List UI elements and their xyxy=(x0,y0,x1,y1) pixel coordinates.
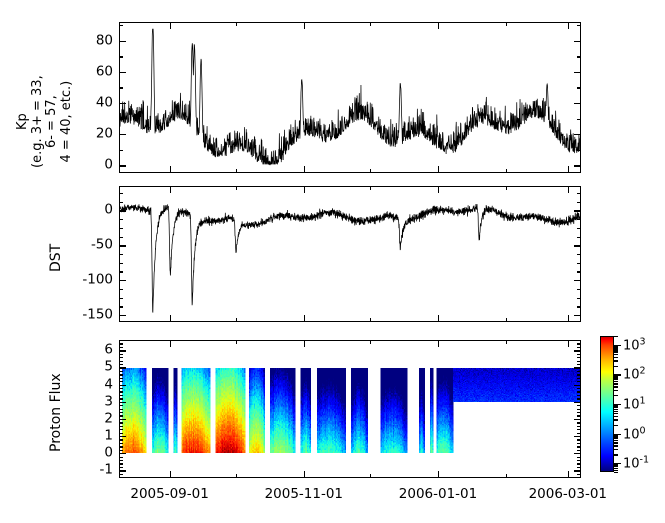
y-minor-tick xyxy=(577,450,581,451)
proton-flux-spectrogram xyxy=(120,341,580,477)
y-major-tick xyxy=(119,436,126,437)
x-major-tick xyxy=(568,166,569,173)
y-minor-tick xyxy=(577,405,581,406)
y-minor-tick xyxy=(119,347,123,348)
dst-trace xyxy=(120,204,580,313)
y-tick-label: -50 xyxy=(67,239,113,253)
colorbar-minor-tick xyxy=(614,445,618,446)
x-major-tick xyxy=(438,471,439,478)
colorbar-tick-label: 103 xyxy=(623,336,646,353)
y-minor-tick xyxy=(577,228,581,229)
x-major-tick xyxy=(304,22,305,29)
colorbar-minor-tick xyxy=(614,454,618,455)
colorbar-minor-tick xyxy=(614,425,618,426)
y-minor-tick xyxy=(119,254,123,255)
y-minor-tick xyxy=(119,457,123,458)
y-major-tick xyxy=(574,436,581,437)
colorbar-minor-tick xyxy=(614,376,618,377)
y-minor-tick xyxy=(119,193,123,194)
colorbar-minor-tick xyxy=(614,468,618,469)
y-minor-tick xyxy=(577,439,581,440)
y-minor-tick xyxy=(119,446,123,447)
y-minor-tick xyxy=(577,263,581,264)
x-minor-tick xyxy=(370,186,371,190)
x-major-tick xyxy=(170,22,171,29)
x-minor-tick xyxy=(370,22,371,26)
y-tick-label: 6 xyxy=(67,344,113,358)
y-minor-tick xyxy=(577,340,581,341)
y-minor-tick xyxy=(577,426,581,427)
x-minor-tick xyxy=(506,318,507,322)
y-major-tick xyxy=(574,165,581,166)
x-major-tick xyxy=(568,471,569,478)
y-major-tick xyxy=(119,350,126,351)
y-minor-tick xyxy=(577,443,581,444)
y-tick-label: 0 xyxy=(67,204,113,218)
y-minor-tick xyxy=(577,477,581,478)
y-major-tick xyxy=(119,402,126,403)
colorbar xyxy=(600,336,614,472)
y-major-tick xyxy=(119,470,126,471)
y-minor-tick xyxy=(119,119,123,120)
y-major-tick xyxy=(574,350,581,351)
colorbar-major-tick xyxy=(614,404,621,405)
y-minor-tick xyxy=(119,289,123,290)
y-minor-tick xyxy=(119,298,123,299)
y-minor-tick xyxy=(119,395,123,396)
x-major-tick xyxy=(438,166,439,173)
x-minor-tick xyxy=(506,340,507,344)
x-minor-tick xyxy=(506,169,507,173)
y-minor-tick xyxy=(119,474,123,475)
y-minor-tick xyxy=(119,391,123,392)
y-major-tick xyxy=(119,280,126,281)
y-major-tick xyxy=(119,245,126,246)
colorbar-minor-tick xyxy=(614,405,618,406)
y-minor-tick xyxy=(577,306,581,307)
x-major-tick xyxy=(438,315,439,322)
x-tick-label: 2006-03-01 xyxy=(529,488,607,502)
x-major-tick xyxy=(304,186,305,193)
y-minor-tick xyxy=(577,398,581,399)
colorbar-minor-tick xyxy=(614,349,618,350)
y-tick-label: 0 xyxy=(67,446,113,460)
colorbar-minor-tick xyxy=(614,381,618,382)
kp-line-plot xyxy=(120,23,580,172)
y-major-tick xyxy=(574,103,581,104)
y-major-tick xyxy=(119,165,126,166)
colorbar-minor-tick xyxy=(614,466,618,467)
colorbar-minor-tick xyxy=(614,379,618,380)
y-minor-tick xyxy=(119,463,123,464)
y-minor-tick xyxy=(119,467,123,468)
y-minor-tick xyxy=(119,150,123,151)
y-minor-tick xyxy=(119,361,123,362)
y-minor-tick xyxy=(577,391,581,392)
y-minor-tick xyxy=(119,25,123,26)
y-minor-tick xyxy=(119,354,123,355)
y-minor-tick xyxy=(577,119,581,120)
y-tick-label: -150 xyxy=(67,308,113,322)
y-minor-tick xyxy=(577,298,581,299)
dst-axis-title: DST xyxy=(48,244,64,272)
kp-axis-title: Kp (e.g. 3+ = 33, 6- = 57, 4 = 40, etc.) xyxy=(16,75,74,168)
y-minor-tick xyxy=(119,409,123,410)
y-major-tick xyxy=(574,280,581,281)
spectrogram-cells xyxy=(122,368,580,453)
colorbar-minor-tick xyxy=(614,464,618,465)
y-minor-tick xyxy=(577,388,581,389)
x-major-tick xyxy=(304,340,305,347)
y-major-tick xyxy=(574,385,581,386)
y-minor-tick xyxy=(577,474,581,475)
y-major-tick xyxy=(574,419,581,420)
x-major-tick xyxy=(438,186,439,193)
y-minor-tick xyxy=(119,87,123,88)
y-tick-label: 2 xyxy=(67,412,113,426)
y-minor-tick xyxy=(577,202,581,203)
y-major-tick xyxy=(119,453,126,454)
x-major-tick xyxy=(304,315,305,322)
y-tick-label: 5 xyxy=(67,361,113,375)
y-tick-label: -100 xyxy=(67,273,113,287)
y-minor-tick xyxy=(577,374,581,375)
y-minor-tick xyxy=(577,446,581,447)
y-minor-tick xyxy=(119,56,123,57)
x-major-tick xyxy=(568,340,569,347)
y-minor-tick xyxy=(119,422,123,423)
colorbar-minor-tick xyxy=(614,442,618,443)
x-minor-tick xyxy=(236,474,237,478)
colorbar-minor-tick xyxy=(614,357,618,358)
figure-canvas: 020406080 Kp (e.g. 3+ = 33, 6- = 57, 4 =… xyxy=(0,0,665,523)
y-tick-label: 3 xyxy=(67,395,113,409)
kp-panel xyxy=(119,22,581,173)
y-major-tick xyxy=(574,41,581,42)
y-minor-tick xyxy=(119,357,123,358)
colorbar-minor-tick xyxy=(614,354,618,355)
y-minor-tick xyxy=(119,460,123,461)
y-minor-tick xyxy=(119,443,123,444)
colorbar-minor-tick xyxy=(614,390,618,391)
y-minor-tick xyxy=(577,56,581,57)
x-minor-tick xyxy=(236,340,237,344)
x-minor-tick xyxy=(370,474,371,478)
y-minor-tick xyxy=(577,271,581,272)
colorbar-minor-tick xyxy=(614,360,618,361)
y-minor-tick xyxy=(577,347,581,348)
x-major-tick xyxy=(304,166,305,173)
x-minor-tick xyxy=(370,340,371,344)
y-minor-tick xyxy=(119,343,123,344)
x-minor-tick xyxy=(236,22,237,26)
y-minor-tick xyxy=(119,398,123,399)
y-minor-tick xyxy=(577,219,581,220)
x-minor-tick xyxy=(236,169,237,173)
y-major-tick xyxy=(574,72,581,73)
y-minor-tick xyxy=(119,426,123,427)
colorbar-minor-tick xyxy=(614,472,618,473)
y-minor-tick xyxy=(577,457,581,458)
y-minor-tick xyxy=(577,429,581,430)
proton-flux-axis-title: Proton Flux xyxy=(48,373,64,452)
y-minor-tick xyxy=(119,405,123,406)
y-minor-tick xyxy=(577,381,581,382)
y-minor-tick xyxy=(119,381,123,382)
x-major-tick xyxy=(568,186,569,193)
colorbar-tick-label: 102 xyxy=(623,366,646,383)
colorbar-minor-tick xyxy=(614,435,618,436)
y-minor-tick xyxy=(119,374,123,375)
colorbar-major-tick xyxy=(614,434,621,435)
x-tick-label: 2005-11-01 xyxy=(265,488,343,502)
y-major-tick xyxy=(574,367,581,368)
y-tick-label: 4 xyxy=(67,378,113,392)
y-major-tick xyxy=(574,453,581,454)
y-minor-tick xyxy=(577,409,581,410)
y-minor-tick xyxy=(119,433,123,434)
y-major-tick xyxy=(119,419,126,420)
colorbar-minor-tick xyxy=(614,348,618,349)
dst-panel xyxy=(119,186,581,322)
y-minor-tick xyxy=(577,361,581,362)
x-minor-tick xyxy=(370,318,371,322)
colorbar-minor-tick xyxy=(614,419,618,420)
y-minor-tick xyxy=(119,450,123,451)
x-minor-tick xyxy=(506,186,507,190)
y-minor-tick xyxy=(577,433,581,434)
colorbar-minor-tick xyxy=(614,440,618,441)
y-tick-label: 1 xyxy=(67,429,113,443)
y-major-tick xyxy=(119,315,126,316)
colorbar-minor-tick xyxy=(614,438,618,439)
y-minor-tick xyxy=(577,354,581,355)
y-minor-tick xyxy=(577,460,581,461)
y-minor-tick xyxy=(577,237,581,238)
colorbar-minor-tick xyxy=(614,416,618,417)
colorbar-gradient xyxy=(601,337,613,471)
x-minor-tick xyxy=(236,186,237,190)
colorbar-major-tick xyxy=(614,345,621,346)
y-minor-tick xyxy=(577,378,581,379)
colorbar-minor-tick xyxy=(614,336,618,337)
colorbar-minor-tick xyxy=(614,377,618,378)
y-minor-tick xyxy=(577,343,581,344)
y-minor-tick xyxy=(577,364,581,365)
y-minor-tick xyxy=(119,429,123,430)
x-tick-label: 2006-01-01 xyxy=(399,488,477,502)
y-major-tick xyxy=(119,41,126,42)
y-major-tick xyxy=(119,134,126,135)
colorbar-minor-tick xyxy=(614,346,618,347)
y-major-tick xyxy=(574,470,581,471)
x-minor-tick xyxy=(370,169,371,173)
y-tick-label: 80 xyxy=(67,34,113,48)
x-minor-tick xyxy=(506,22,507,26)
y-major-tick xyxy=(574,134,581,135)
y-minor-tick xyxy=(119,202,123,203)
y-minor-tick xyxy=(119,364,123,365)
y-minor-tick xyxy=(119,378,123,379)
colorbar-minor-tick xyxy=(614,366,618,367)
y-minor-tick xyxy=(577,412,581,413)
y-minor-tick xyxy=(119,228,123,229)
y-minor-tick xyxy=(577,193,581,194)
colorbar-minor-tick xyxy=(614,351,618,352)
y-minor-tick xyxy=(119,340,123,341)
x-minor-tick xyxy=(506,474,507,478)
kp-trace xyxy=(120,29,580,164)
kp-axis-title-line-1: Kp xyxy=(16,75,31,168)
y-tick-label: -1 xyxy=(67,464,113,478)
x-major-tick xyxy=(170,315,171,322)
x-major-tick xyxy=(438,340,439,347)
colorbar-major-tick xyxy=(614,374,621,375)
colorbar-minor-tick xyxy=(614,413,618,414)
proton-flux-panel xyxy=(119,340,581,478)
y-minor-tick xyxy=(577,422,581,423)
y-minor-tick xyxy=(577,395,581,396)
kp-axis-title-line-4: 4 = 40, etc.) xyxy=(60,75,75,168)
colorbar-minor-tick xyxy=(614,383,618,384)
y-minor-tick xyxy=(577,254,581,255)
y-minor-tick xyxy=(119,237,123,238)
y-minor-tick xyxy=(119,271,123,272)
y-minor-tick xyxy=(119,263,123,264)
y-minor-tick xyxy=(577,463,581,464)
y-minor-tick xyxy=(119,412,123,413)
x-minor-tick xyxy=(236,318,237,322)
kp-axis-title-line-3: 6- = 57, xyxy=(45,75,60,168)
y-minor-tick xyxy=(119,388,123,389)
y-major-tick xyxy=(119,367,126,368)
y-minor-tick xyxy=(577,289,581,290)
y-major-tick xyxy=(119,210,126,211)
x-major-tick xyxy=(170,186,171,193)
colorbar-minor-tick xyxy=(614,411,618,412)
y-minor-tick xyxy=(119,415,123,416)
x-major-tick xyxy=(170,471,171,478)
y-minor-tick xyxy=(119,306,123,307)
colorbar-minor-tick xyxy=(614,409,618,410)
y-minor-tick xyxy=(577,371,581,372)
colorbar-minor-tick xyxy=(614,436,618,437)
y-minor-tick xyxy=(577,150,581,151)
y-major-tick xyxy=(574,402,581,403)
y-minor-tick xyxy=(577,87,581,88)
y-major-tick xyxy=(119,72,126,73)
colorbar-minor-tick xyxy=(614,386,618,387)
y-minor-tick xyxy=(119,219,123,220)
colorbar-major-tick xyxy=(614,463,621,464)
y-minor-tick xyxy=(577,415,581,416)
y-minor-tick xyxy=(577,467,581,468)
y-minor-tick xyxy=(119,439,123,440)
y-major-tick xyxy=(119,103,126,104)
colorbar-tick-label: 10-1 xyxy=(623,454,649,471)
x-major-tick xyxy=(170,340,171,347)
y-minor-tick xyxy=(577,25,581,26)
x-major-tick xyxy=(568,22,569,29)
kp-axis-title-line-2: (e.g. 3+ = 33, xyxy=(31,75,46,168)
colorbar-tick-label: 100 xyxy=(623,425,646,442)
x-major-tick xyxy=(568,315,569,322)
y-major-tick xyxy=(574,315,581,316)
y-major-tick xyxy=(574,245,581,246)
x-major-tick xyxy=(438,22,439,29)
x-major-tick xyxy=(304,471,305,478)
colorbar-minor-tick xyxy=(614,407,618,408)
colorbar-tick-label: 101 xyxy=(623,395,646,412)
y-major-tick xyxy=(119,385,126,386)
colorbar-minor-tick xyxy=(614,449,618,450)
y-minor-tick xyxy=(577,357,581,358)
x-major-tick xyxy=(170,166,171,173)
colorbar-minor-tick xyxy=(614,470,618,471)
y-major-tick xyxy=(574,210,581,211)
colorbar-minor-tick xyxy=(614,395,618,396)
dst-line-plot xyxy=(120,187,580,321)
y-minor-tick xyxy=(119,371,123,372)
x-tick-label: 2005-09-01 xyxy=(130,488,208,502)
y-minor-tick xyxy=(119,477,123,478)
